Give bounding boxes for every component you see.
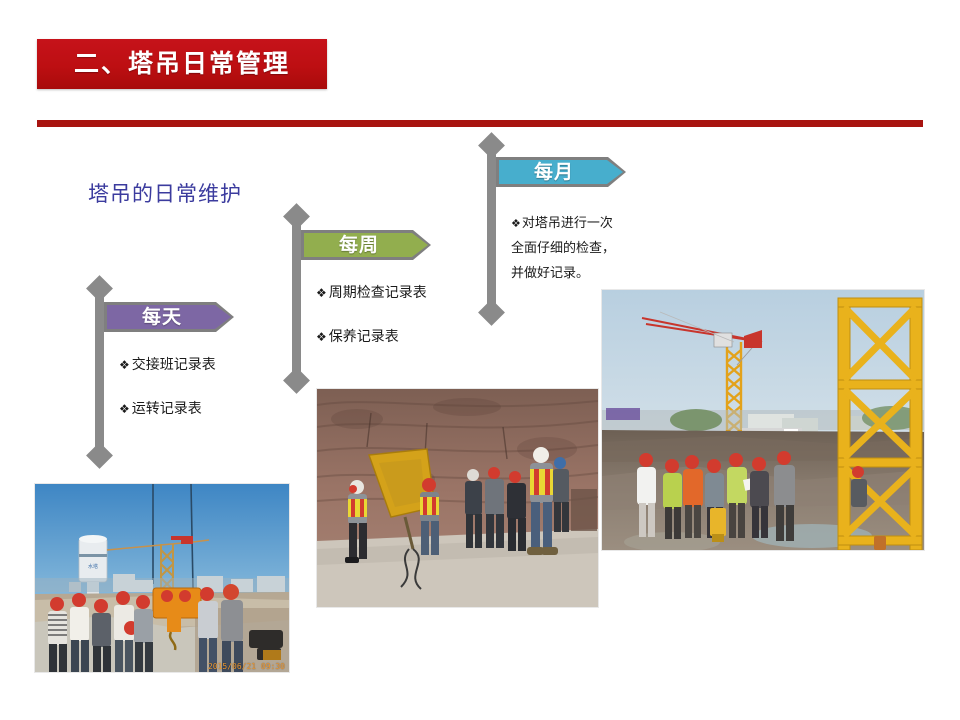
svg-text:水塔: 水塔 — [88, 563, 98, 570]
list-item: ❖周期检查记录表 — [316, 278, 427, 308]
photo-monthly-image — [602, 290, 924, 550]
photo-daily: 水塔 — [34, 483, 290, 673]
list-item: ❖交接班记录表 — [119, 350, 216, 380]
header-divider-rule — [37, 120, 923, 127]
list-item-label: 保养记录表 — [329, 329, 399, 345]
banner-label-monthly: 每月 — [496, 157, 612, 187]
bullet-icon: ❖ — [119, 358, 130, 372]
list-item: ❖保养记录表 — [316, 322, 427, 352]
diamond-cap-icon — [283, 203, 310, 230]
list-item-label: 并做好记录。 — [511, 266, 589, 281]
list-item-label: 交接班记录表 — [132, 357, 216, 373]
section-title-box: 二、塔吊日常管理 — [37, 39, 327, 89]
subtitle-text: 塔吊的日常维护 — [88, 178, 242, 208]
banner-monthly[interactable]: 每月 — [496, 157, 626, 187]
diamond-cap-icon — [86, 275, 113, 302]
list-item: 全面仔细的检查， — [511, 236, 615, 261]
banner-daily[interactable]: 每天 — [104, 302, 234, 332]
photo-weekly — [316, 388, 599, 608]
signpost-daily-items: ❖交接班记录表 ❖运转记录表 — [119, 350, 216, 424]
photo-monthly — [601, 289, 925, 551]
list-item-label: 运转记录表 — [132, 401, 202, 417]
list-item-label: 周期检查记录表 — [329, 285, 427, 301]
signpost-weekly: 每周 ❖周期检查记录表 ❖保养记录表 — [292, 216, 522, 381]
diamond-cap-icon — [86, 442, 113, 469]
list-item: 并做好记录。 — [511, 261, 615, 286]
diamond-cap-icon — [478, 132, 505, 159]
signpost-daily: 每天 ❖交接班记录表 ❖运转记录表 — [95, 288, 325, 456]
banner-label-weekly: 每周 — [301, 230, 417, 260]
banner-label-daily: 每天 — [104, 302, 220, 332]
banner-weekly[interactable]: 每周 — [301, 230, 431, 260]
list-item-label: 对塔吊进行一次 — [522, 216, 613, 231]
signpost-pole — [95, 288, 104, 456]
photo-timestamp: 2015/06/21 09:30 — [208, 662, 285, 671]
photo-daily-image: 水塔 — [35, 484, 289, 672]
list-item: ❖对塔吊进行一次 — [511, 211, 615, 236]
signpost-monthly-items: ❖对塔吊进行一次 全面仔细的检查， 并做好记录。 — [511, 211, 615, 286]
slide-root: 二、塔吊日常管理 塔吊的日常维护 每月 ❖对塔吊进行一次 全面仔细的检查， 并做… — [0, 0, 960, 720]
list-item-label: 全面仔细的检查， — [511, 241, 615, 256]
bullet-icon: ❖ — [119, 402, 130, 416]
photo-weekly-image — [317, 389, 598, 607]
page-title: 二、塔吊日常管理 — [37, 39, 327, 89]
signpost-weekly-items: ❖周期检查记录表 ❖保养记录表 — [316, 278, 427, 352]
list-item: ❖运转记录表 — [119, 394, 216, 424]
